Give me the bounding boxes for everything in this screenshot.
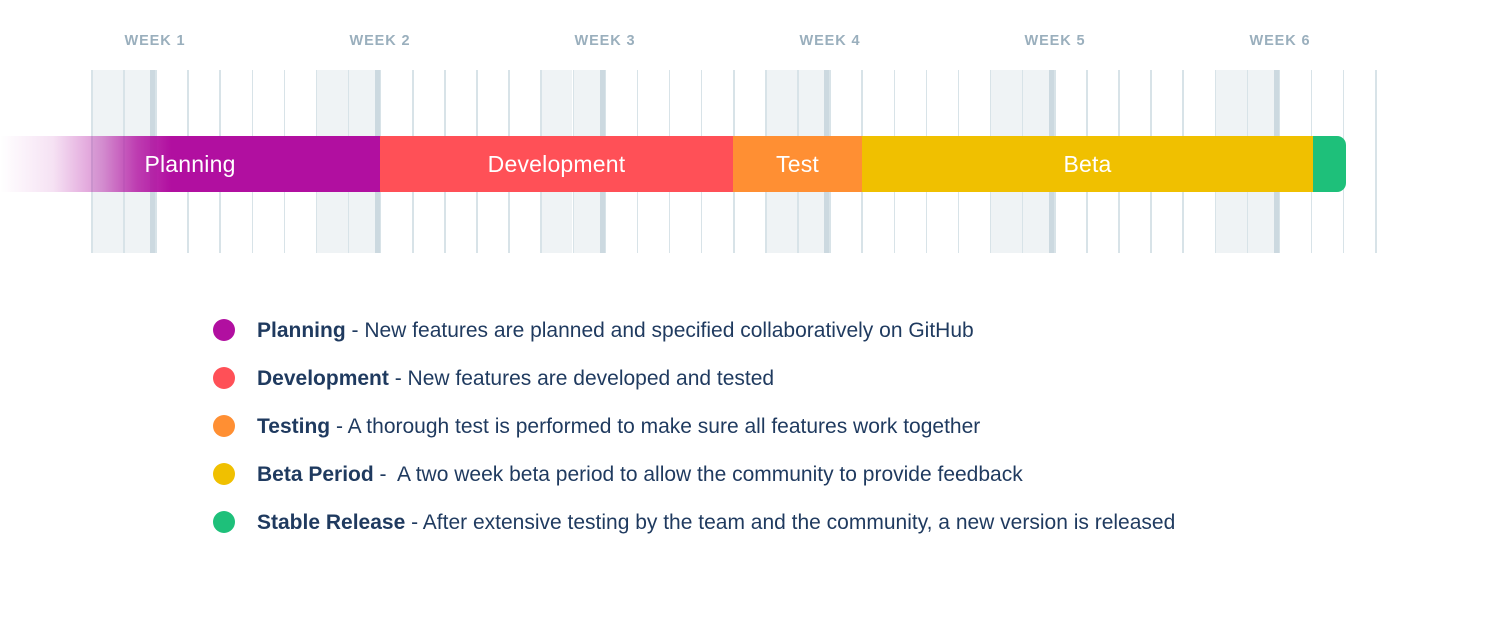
week-label-4: WEEK 4: [800, 33, 861, 49]
phase-bar-label: Beta: [1063, 151, 1111, 178]
legend-item-description: - New features are developed and tested: [389, 367, 774, 390]
phase-bar-label: Test: [776, 151, 819, 178]
legend-dot-planning: [213, 319, 235, 341]
legend-item-text: Beta Period - A two week beta period to …: [257, 464, 1023, 485]
phase-bar-beta-period[interactable]: Beta: [862, 136, 1313, 192]
legend-dot-beta-period: [213, 463, 235, 485]
release-timeline-chart: WEEK 1WEEK 2WEEK 3WEEK 4WEEK 5WEEK 6 Pla…: [0, 0, 1500, 270]
week-label-5: WEEK 5: [1025, 33, 1086, 49]
legend-dot-testing: [213, 415, 235, 437]
legend-item[interactable]: Beta Period - A two week beta period to …: [213, 450, 1453, 498]
legend-item[interactable]: Stable Release - After extensive testing…: [213, 498, 1453, 546]
phase-legend: Planning - New features are planned and …: [213, 306, 1453, 546]
phase-bar-planning[interactable]: Planning: [0, 136, 380, 192]
legend-item-description: - New features are planned and specified…: [346, 319, 974, 342]
legend-item[interactable]: Testing - A thorough test is performed t…: [213, 402, 1453, 450]
legend-item-text: Planning - New features are planned and …: [257, 320, 974, 341]
phase-bar-development[interactable]: Development: [380, 136, 733, 192]
legend-item[interactable]: Development - New features are developed…: [213, 354, 1453, 402]
legend-item-term: Stable Release: [257, 511, 405, 534]
week-label-1: WEEK 1: [125, 33, 186, 49]
legend-item-term: Beta Period: [257, 463, 374, 486]
phase-bar-stable-release[interactable]: [1313, 136, 1346, 192]
legend-item-text: Development - New features are developed…: [257, 368, 774, 389]
phase-bar-label: Planning: [144, 151, 235, 178]
legend-item-text: Testing - A thorough test is performed t…: [257, 416, 980, 437]
week-label-3: WEEK 3: [575, 33, 636, 49]
timeline-phase-bars: PlanningDevelopmentTestBeta: [0, 136, 1500, 192]
week-axis: WEEK 1WEEK 2WEEK 3WEEK 4WEEK 5WEEK 6: [0, 0, 1500, 60]
phase-bar-testing[interactable]: Test: [733, 136, 862, 192]
legend-item-term: Development: [257, 367, 389, 390]
legend-item-term: Planning: [257, 319, 346, 342]
legend-item-term: Testing: [257, 415, 330, 438]
week-label-6: WEEK 6: [1250, 33, 1311, 49]
legend-item-description: - A two week beta period to allow the co…: [374, 463, 1023, 486]
phase-bar-label: Development: [488, 151, 626, 178]
legend-dot-stable-release: [213, 511, 235, 533]
week-label-2: WEEK 2: [350, 33, 411, 49]
legend-dot-development: [213, 367, 235, 389]
legend-item-text: Stable Release - After extensive testing…: [257, 512, 1175, 533]
legend-item-description: - A thorough test is performed to make s…: [330, 415, 980, 438]
legend-item-description: - After extensive testing by the team an…: [405, 511, 1175, 534]
legend-item[interactable]: Planning - New features are planned and …: [213, 306, 1453, 354]
